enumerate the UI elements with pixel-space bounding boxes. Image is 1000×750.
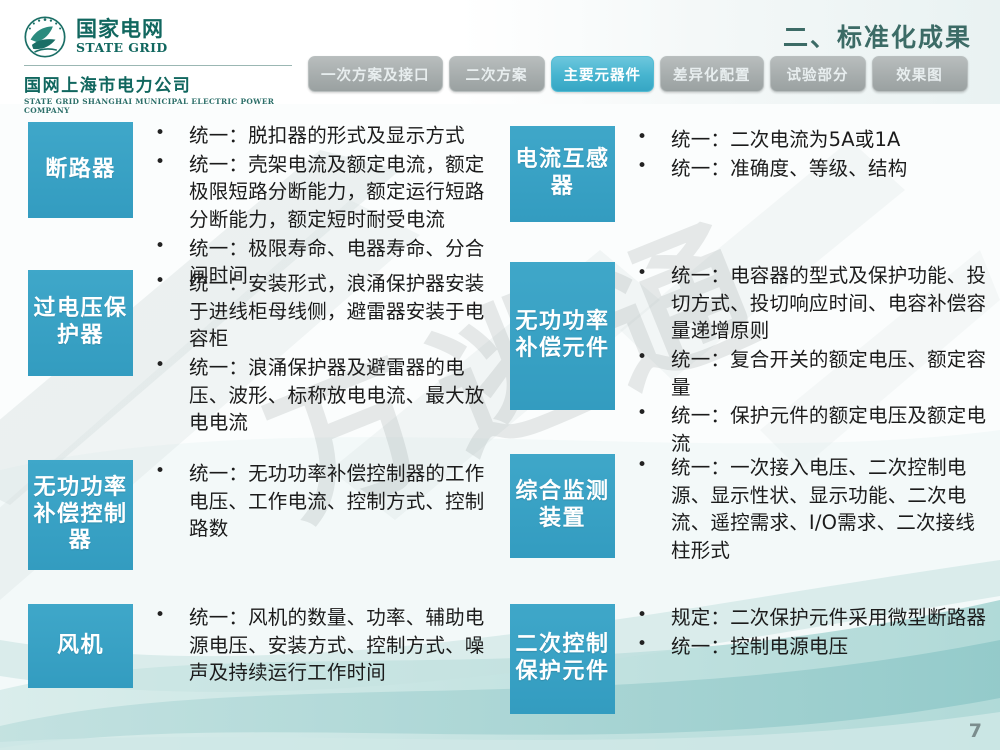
component-row: 断路器统一：脱扣器的形式及显示方式统一：壳架电流及额定电流，额定极限短路分断能力… (28, 122, 494, 291)
component-row: 综合监测装置统一：一次接入电压、二次控制电源、显示性状、显示功能、二次电流、遥控… (510, 454, 994, 566)
company-logo: 国家电网 STATE GRID 国网上海市电力公司 STATE GRID SHA… (24, 16, 294, 115)
component-row: 风机统一：风机的数量、功率、辅助电源电压、安装方式、控制方式、噪声及持续运行工作… (28, 604, 494, 688)
tab-5[interactable]: 效果图 (872, 56, 968, 92)
component-spec-list: 统一：无功功率补偿控制器的工作电压、工作电流、控制方式、控制路数 (151, 460, 494, 544)
logo-divider (24, 65, 292, 66)
component-label-box: 电流互感器 (510, 126, 615, 222)
list-item: 统一：无功功率补偿控制器的工作电压、工作电流、控制方式、控制路数 (151, 460, 494, 543)
component-row: 无功功率补偿元件统一：电容器的型式及保护功能、投切方式、投切响应时间、电容补偿容… (510, 262, 994, 459)
tab-bar[interactable]: 一次方案及接口二次方案主要元器件差异化配置试验部分效果图 (308, 56, 968, 92)
tab-0[interactable]: 一次方案及接口 (308, 56, 443, 92)
logo-company-name-cn: 国家电网 (76, 19, 168, 40)
component-spec-list: 统一：二次电流为5A或1A统一：准确度、等级、结构 (633, 126, 907, 183)
component-label-box: 过电压保护器 (28, 270, 133, 376)
list-item: 统一：复合开关的额定电压、额定容量 (633, 346, 994, 401)
list-item: 规定：二次保护元件采用微型断路器 (633, 604, 986, 632)
component-spec-list: 统一：安装形式，浪涌保护器安装于进线柜母线侧，避雷器安装于电容柜统一：浪涌保护器… (151, 270, 494, 438)
component-row: 电流互感器统一：二次电流为5A或1A统一：准确度、等级、结构 (510, 126, 994, 222)
component-spec-list: 统一：风机的数量、功率、辅助电源电压、安装方式、控制方式、噪声及持续运行工作时间 (151, 604, 494, 688)
component-row: 过电压保护器统一：安装形式，浪涌保护器安装于进线柜母线侧，避雷器安装于电容柜统一… (28, 270, 494, 438)
page-title: 二、标准化成果 (783, 18, 972, 54)
list-item: 统一：浪涌保护器及避雷器的电压、波形、标称放电电流、最大放电电流 (151, 354, 494, 437)
list-item: 统一：电容器的型式及保护功能、投切方式、投切响应时间、电容补偿容量递增原则 (633, 262, 994, 345)
list-item: 统一：二次电流为5A或1A (633, 126, 907, 154)
component-row: 二次控制保护元件规定：二次保护元件采用微型断路器统一：控制电源电压 (510, 604, 994, 714)
list-item: 统一：脱扣器的形式及显示方式 (151, 122, 494, 150)
list-item: 统一：风机的数量、功率、辅助电源电压、安装方式、控制方式、噪声及持续运行工作时间 (151, 604, 494, 687)
list-item: 统一：壳架电流及额定电流，额定极限短路分断能力，额定运行短路分断能力，额定短时耐… (151, 151, 494, 234)
tab-4[interactable]: 试验部分 (770, 56, 866, 92)
tab-2[interactable]: 主要元器件 (551, 56, 655, 92)
slide: 万逃通 国家电网 STATE GRID (0, 0, 1000, 750)
logo-company-name-en: STATE GRID (76, 42, 168, 55)
list-item: 统一：一次接入电压、二次控制电源、显示性状、显示功能、二次电流、遥控需求、I/O… (633, 454, 994, 565)
component-spec-list: 统一：一次接入电压、二次控制电源、显示性状、显示功能、二次电流、遥控需求、I/O… (633, 454, 994, 566)
left-column: 断路器统一：脱扣器的形式及显示方式统一：壳架电流及额定电流，额定极限短路分断能力… (0, 104, 500, 750)
list-item: 统一：控制电源电压 (633, 633, 986, 661)
component-spec-list: 规定：二次保护元件采用微型断路器统一：控制电源电压 (633, 604, 986, 661)
content-columns: 断路器统一：脱扣器的形式及显示方式统一：壳架电流及额定电流，额定极限短路分断能力… (0, 104, 1000, 750)
logo-subsidiary-name-cn: 国网上海市电力公司 (24, 71, 294, 96)
component-label-box: 综合监测装置 (510, 454, 615, 558)
list-item: 统一：安装形式，浪涌保护器安装于进线柜母线侧，避雷器安装于电容柜 (151, 270, 494, 353)
list-item: 统一：准确度、等级、结构 (633, 155, 907, 183)
component-spec-list: 统一：电容器的型式及保护功能、投切方式、投切响应时间、电容补偿容量递增原则统一：… (633, 262, 994, 459)
state-grid-logo-icon (24, 16, 66, 58)
list-item: 统一：保护元件的额定电压及额定电流 (633, 402, 994, 457)
component-label-box: 无功功率补偿元件 (510, 262, 615, 410)
component-spec-list: 统一：脱扣器的形式及显示方式统一：壳架电流及额定电流，额定极限短路分断能力，额定… (151, 122, 494, 291)
component-label-box: 风机 (28, 604, 133, 688)
component-label-box: 无功功率补偿控制器 (28, 460, 133, 570)
component-label-box: 断路器 (28, 122, 133, 218)
tab-1[interactable]: 二次方案 (449, 56, 545, 92)
slide-header: 国家电网 STATE GRID 国网上海市电力公司 STATE GRID SHA… (0, 0, 1000, 104)
right-column: 电流互感器统一：二次电流为5A或1A统一：准确度、等级、结构无功功率补偿元件统一… (500, 104, 1000, 750)
page-number: 7 (969, 720, 982, 742)
tab-3[interactable]: 差异化配置 (660, 56, 764, 92)
component-label-box: 二次控制保护元件 (510, 604, 615, 714)
component-row: 无功功率补偿控制器统一：无功功率补偿控制器的工作电压、工作电流、控制方式、控制路… (28, 460, 494, 570)
